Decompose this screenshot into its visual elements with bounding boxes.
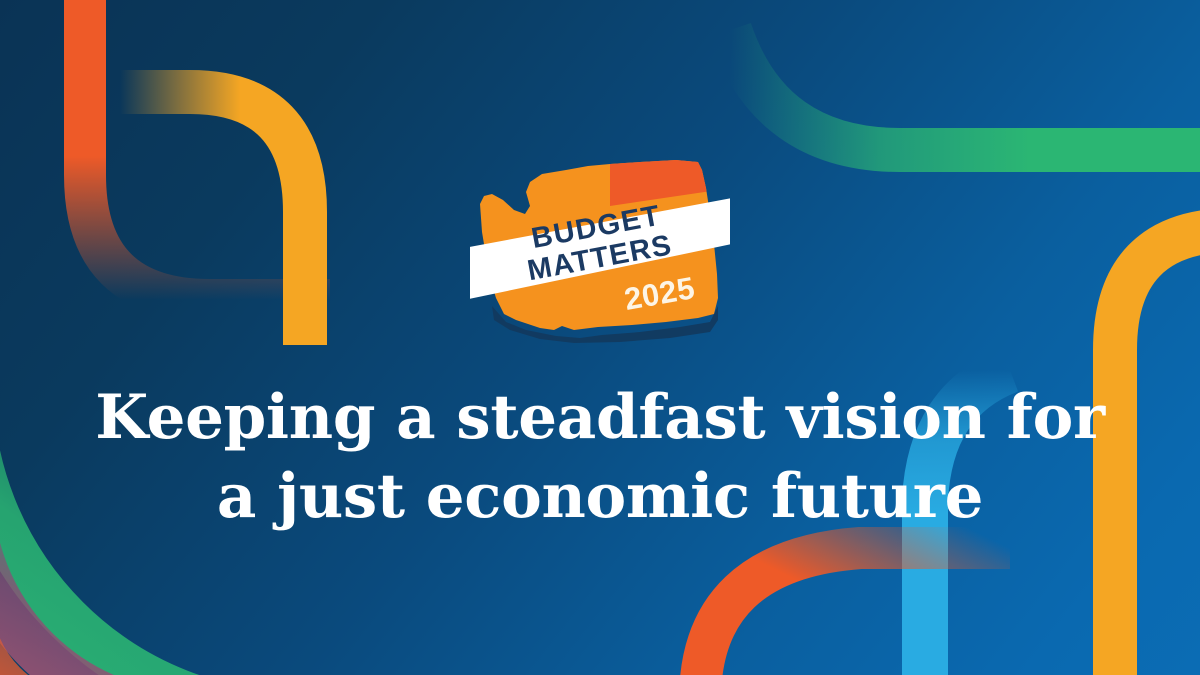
- pipe-green-top-right: [730, 30, 1200, 150]
- arc-orange-bottom-left: [0, 600, 88, 675]
- pipe-amber-top-left-curve: [120, 92, 305, 345]
- budget-matters-logo-svg: BUDGET MATTERS 2025: [470, 148, 730, 353]
- pipe-orange-red-bottom-right: [700, 548, 1010, 675]
- pipe-orange-red-top-left: [85, 0, 330, 300]
- headline-line-1: Keeping a steadfast vision for: [70, 378, 1130, 457]
- headline-line-2: a just economic future: [70, 457, 1130, 536]
- banner-canvas: BUDGET MATTERS 2025 Keeping a steadfast …: [0, 0, 1200, 675]
- headline: Keeping a steadfast vision for a just ec…: [0, 378, 1200, 537]
- budget-matters-logo: BUDGET MATTERS 2025: [470, 148, 730, 353]
